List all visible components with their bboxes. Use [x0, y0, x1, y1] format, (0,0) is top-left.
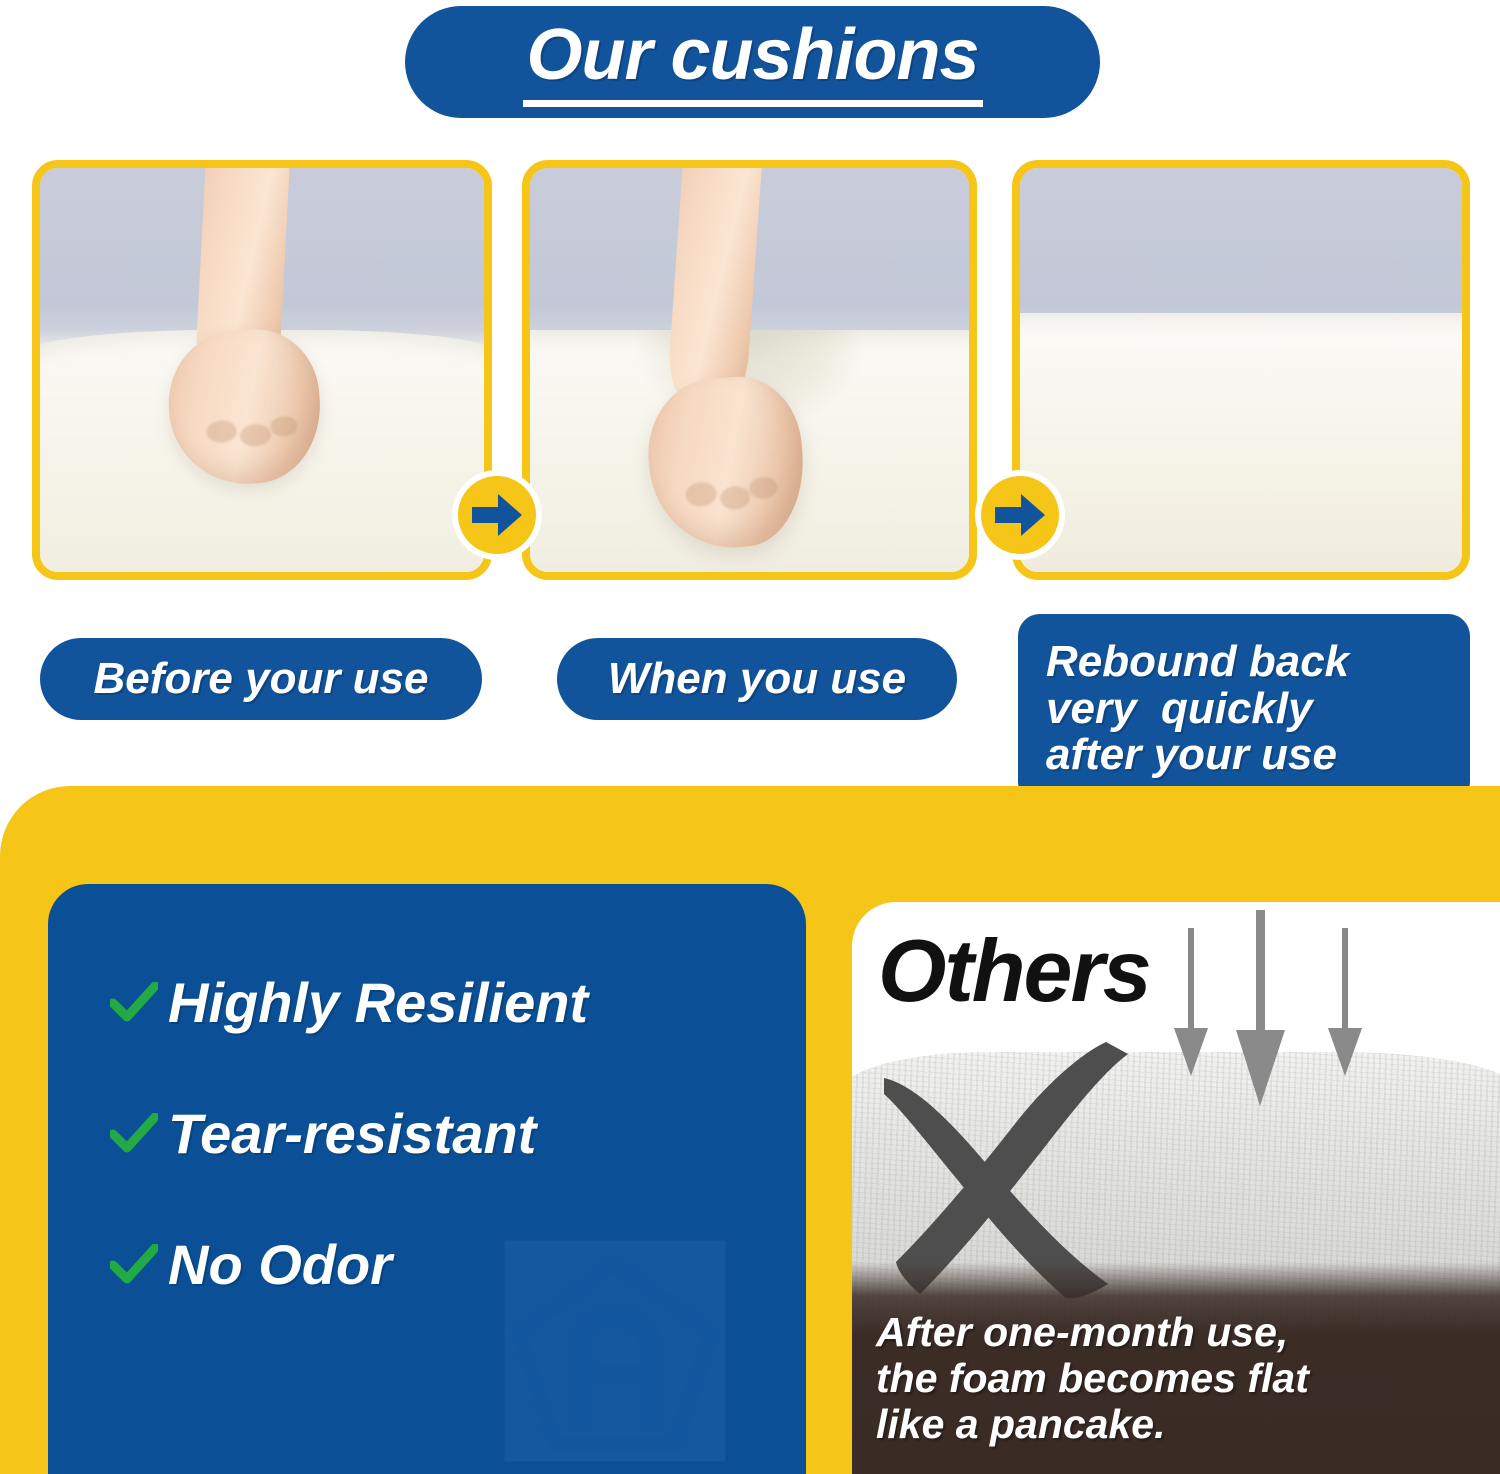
check-icon [110, 1113, 168, 1155]
step-arrow-icon-1 [452, 470, 542, 560]
check-icon [110, 982, 168, 1024]
photo-scene-during [530, 168, 969, 572]
photo-scene-before [40, 168, 484, 572]
others-caption-line-3: like a pancake. [876, 1402, 1309, 1448]
demo-photo-during [522, 160, 977, 580]
feature-label: No Odor [168, 1232, 392, 1297]
feature-item: Tear-resistant [110, 1101, 770, 1166]
page-title-banner: Our cushions [405, 6, 1100, 118]
caption-after-line-2: very quickly [1046, 686, 1313, 733]
features-panel: Highly Resilient Tear-resistant No Odor [48, 884, 806, 1474]
caption-before: Before your use [40, 638, 482, 720]
caption-after: Rebound back very quickly after your use [1018, 614, 1470, 804]
down-arrow-icon-group [1152, 910, 1412, 1140]
others-panel: Others A [852, 902, 1500, 1474]
others-caption-line-1: After one-month use, [876, 1310, 1309, 1356]
pentagon-a-logo-icon [500, 1236, 730, 1466]
foam-surface-rebounded [1012, 313, 1470, 580]
feature-label: Highly Resilient [168, 970, 588, 1035]
step-arrow-icon-2 [975, 470, 1065, 560]
feature-item: Highly Resilient [110, 970, 770, 1035]
demo-photo-after [1012, 160, 1470, 580]
caption-during: When you use [557, 638, 957, 720]
page-title: Our cushions [526, 19, 978, 91]
title-underline [523, 100, 983, 107]
demo-photo-row [0, 160, 1500, 580]
photo-scene-after [1020, 168, 1462, 572]
feature-label: Tear-resistant [168, 1101, 536, 1166]
demo-photo-before [32, 160, 492, 580]
caption-after-line-1: Rebound back [1046, 639, 1349, 686]
caption-after-line-3: after your use [1046, 732, 1337, 779]
others-caption: After one-month use, the foam becomes fl… [876, 1310, 1309, 1448]
infographic-page: Our cushions [0, 0, 1500, 1474]
check-icon [110, 1244, 168, 1286]
others-caption-line-2: the foam becomes flat [876, 1356, 1309, 1402]
others-title: Others [878, 920, 1150, 1022]
